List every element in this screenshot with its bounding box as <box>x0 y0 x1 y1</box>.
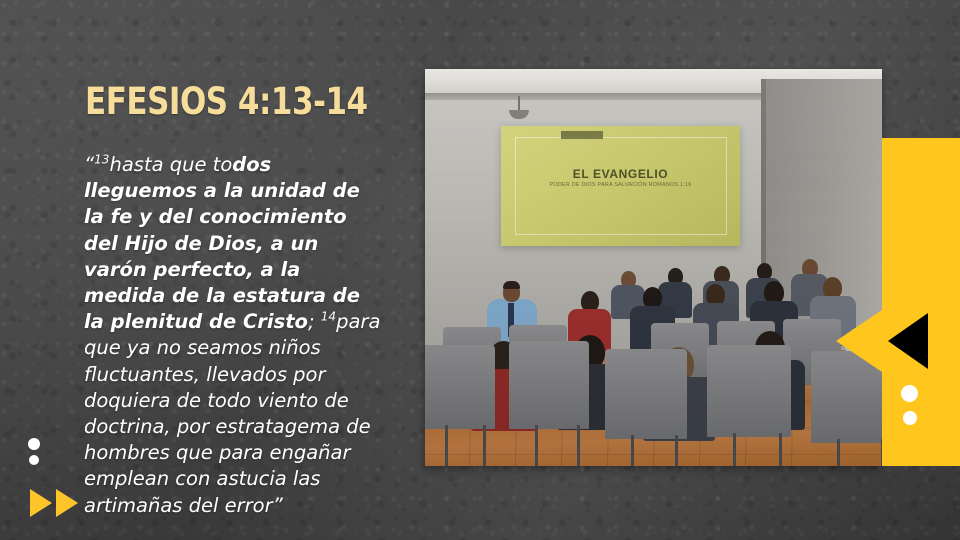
page-title: EFESIOS 4:13-14 <box>85 80 368 123</box>
verse-semicolon: ; <box>308 310 321 333</box>
verse-open-quote: “ <box>84 153 94 176</box>
black-left-arrow-icon <box>888 313 928 369</box>
verse-tail-text: para que ya no seamos niños fluctuantes,… <box>84 310 380 516</box>
verse-lead-text: hasta que to <box>109 153 232 176</box>
corner-dot-upper-icon <box>28 438 40 450</box>
right-accent-panel <box>882 138 960 466</box>
verse-bold-text: dos lleguemos a la unidad de la fe y del… <box>84 153 360 333</box>
yellow-left-arrow-icon <box>836 310 882 372</box>
panel-dot-lower-icon <box>903 411 917 425</box>
yellow-right-arrow-first-icon <box>30 489 52 517</box>
verse-body: “13hasta que todos lleguemos a la unidad… <box>84 152 384 519</box>
corner-dot-lower-icon <box>29 455 39 465</box>
slide-canvas: EFESIOS 4:13-14 “13hasta que todos llegu… <box>0 0 960 540</box>
verse-number-13: 13 <box>94 153 109 167</box>
congregation-photo: EL EVANGELIO PODER DE DIOS PARA SALVACIÓ… <box>425 69 882 466</box>
photo-tonal-overlay <box>425 69 882 466</box>
verse-number-14: 14 <box>321 310 336 324</box>
panel-dot-upper-icon <box>901 385 918 402</box>
yellow-right-arrow-second-icon <box>56 489 78 517</box>
